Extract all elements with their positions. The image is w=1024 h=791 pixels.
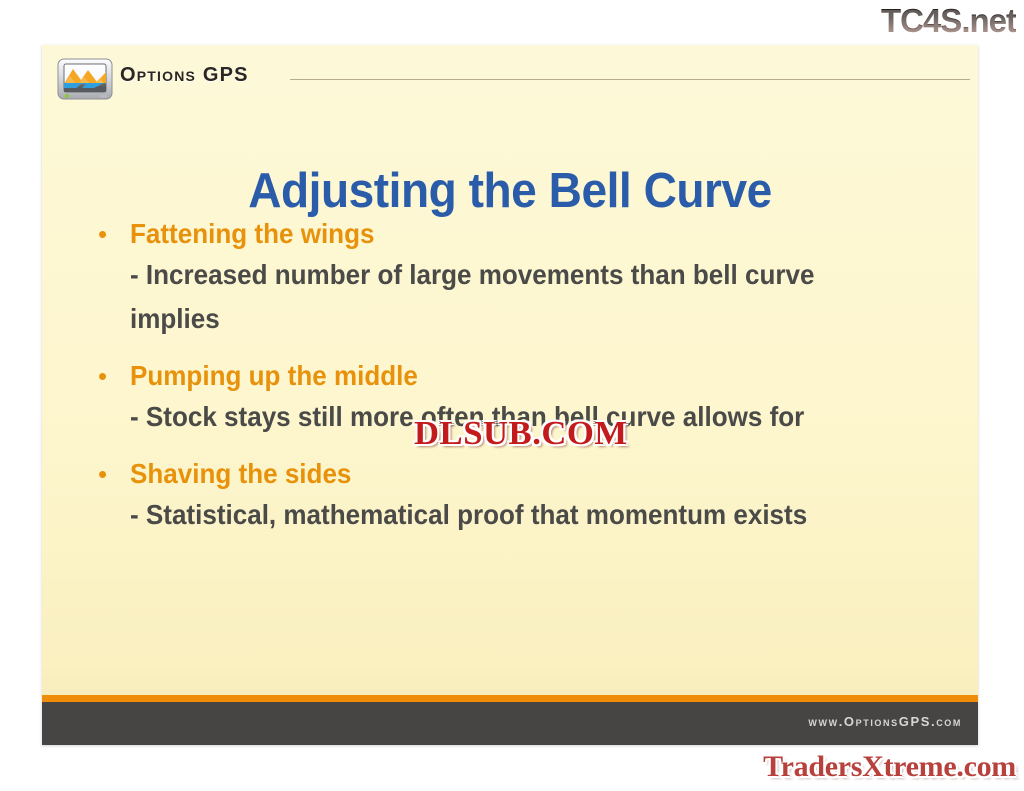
bullet-list: • Fattening the wings - Increased number… [94,215,948,553]
bullet-subtext: - Stock stays still more often than bell… [130,395,891,439]
brand-wordmark: Options GPS [120,64,249,87]
bullet-item: • Pumping up the middle - Stock stays st… [94,357,948,439]
bullet-subtext: - Increased number of large movements th… [130,253,891,341]
bullet-item: • Shaving the sides - Statistical, mathe… [94,455,948,537]
footer-website-url: www.OptionsGPS.com [808,714,962,729]
bullet-marker-icon: • [94,217,130,251]
bullet-marker-icon: • [94,457,130,491]
bullet-subtext: - Statistical, mathematical proof that m… [130,493,891,537]
bullet-item: • Fattening the wings - Increased number… [94,215,948,341]
footer-accent-bar [42,695,978,702]
bullet-heading: Shaving the sides [130,455,351,493]
partner-logo-tradersxtreme: TradersXtreme.com [763,749,1016,785]
gps-device-icon [56,56,114,102]
bullet-marker-icon: • [94,359,130,393]
slide-footer-bar: www.OptionsGPS.com [42,702,978,745]
slide-header: Options GPS [42,45,978,103]
bullet-heading: Fattening the wings [130,215,374,253]
header-divider [290,79,970,80]
slide-title: Adjusting the Bell Curve [70,163,950,219]
presentation-slide: Options GPS Adjusting the Bell Curve • F… [42,45,978,745]
bullet-heading: Pumping up the middle [130,357,418,395]
site-brand-tc4s: TC4S.net [881,2,1016,40]
